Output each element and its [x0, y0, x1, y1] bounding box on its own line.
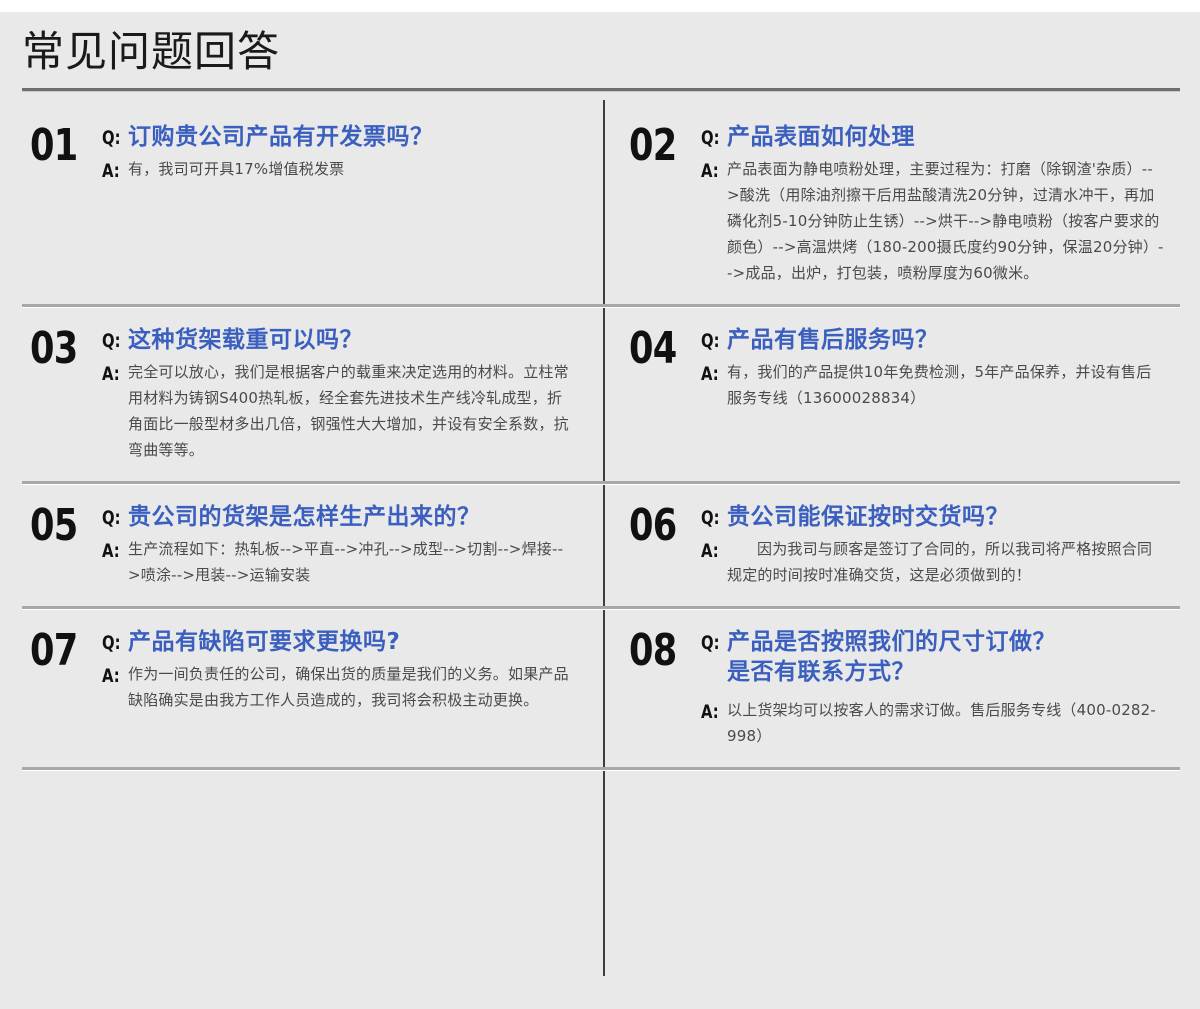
answer-label: A: — [102, 156, 122, 182]
faq-answer-line: A: 生产流程如下：热轧板-->平直-->冲孔-->成型-->切割-->焊接--… — [102, 536, 575, 588]
faq-answer-text: 完全可以放心，我们是根据客户的载重来决定选用的材料。立柱常用材料为铸钢S400热… — [128, 359, 575, 463]
question-label: Q: — [701, 325, 721, 352]
faq-grid: 01 Q: 订购贵公司产品有开发票吗？ A: 有，我司可开具17%增值税发票 0… — [22, 104, 1180, 770]
faq-question-line: Q: 贵公司能保证按时交货吗？ — [701, 502, 1164, 532]
question-label: Q: — [701, 502, 721, 529]
faq-question-line: Q: 贵公司的货架是怎样生产出来的？ — [102, 502, 575, 532]
faq-item-07: 07 Q: 产品有缺陷可要求更换吗? A: 作为一间负责任的公司，确保出货的质量… — [22, 609, 601, 767]
faq-number: 08 — [629, 629, 687, 673]
faq-answer-line: A: 产品表面为静电喷粉处理，主要过程为：打磨（除钢渣'杂质）-->酸洗（用除油… — [701, 156, 1164, 286]
faq-question-line: Q: 这种货架载重可以吗？ — [102, 325, 575, 355]
faq-question-line: Q: 产品有缺陷可要求更换吗? — [102, 627, 575, 657]
faq-answer-line: A: 完全可以放心，我们是根据客户的载重来决定选用的材料。立柱常用材料为铸钢S4… — [102, 359, 575, 463]
faq-answer-text: 生产流程如下：热轧板-->平直-->冲孔-->成型-->切割-->焊接-->喷涂… — [128, 536, 575, 588]
faq-answer-line: A: 因为我司与顾客是签订了合同的，所以我司将严格按照合同规定的时间按时准确交货… — [701, 536, 1164, 588]
page-header: 常见问题回答 — [22, 26, 1180, 91]
faq-row: 07 Q: 产品有缺陷可要求更换吗? A: 作为一间负责任的公司，确保出货的质量… — [22, 609, 1180, 770]
faq-answer-line: A: 有，我们的产品提供10年免费检测，5年产品保养，并设有售后服务专线（136… — [701, 359, 1164, 411]
faq-item-03: 03 Q: 这种货架载重可以吗？ A: 完全可以放心，我们是根据客户的载重来决定… — [22, 307, 601, 481]
faq-number: 04 — [629, 327, 687, 371]
answer-label: A: — [701, 359, 721, 385]
faq-number: 05 — [30, 504, 88, 548]
answer-label: A: — [102, 661, 122, 687]
faq-number: 07 — [30, 629, 88, 673]
question-label: Q: — [102, 325, 122, 352]
faq-item-08: 08 Q: 产品是否按照我们的尺寸订做？ 是否有联系方式？ A: 以上货架均可以… — [601, 609, 1180, 767]
answer-label: A: — [701, 697, 721, 723]
faq-question-text: 产品是否按照我们的尺寸订做？ 是否有联系方式？ — [727, 627, 1164, 687]
faq-row: 03 Q: 这种货架载重可以吗？ A: 完全可以放心，我们是根据客户的载重来决定… — [22, 307, 1180, 484]
faq-page: 常见问题回答 01 Q: 订购贵公司产品有开发票吗？ A: 有，我司可开具17%… — [0, 0, 1200, 1009]
faq-number: 03 — [30, 327, 88, 371]
answer-label: A: — [701, 156, 721, 182]
page-title: 常见问题回答 — [22, 26, 1180, 78]
faq-item-06: 06 Q: 贵公司能保证按时交货吗？ A: 因为我司与顾客是签订了合同的，所以我… — [601, 484, 1180, 606]
faq-answer-text: 以上货架均可以按客人的需求订做。售后服务专线（400-0282-998） — [727, 697, 1164, 749]
faq-answer-text: 作为一间负责任的公司，确保出货的质量是我们的义务。如果产品缺陷确实是由我方工作人… — [128, 661, 575, 713]
faq-question-line: Q: 产品表面如何处理 — [701, 122, 1164, 152]
faq-question-text: 这种货架载重可以吗？ — [128, 325, 575, 355]
faq-qa: Q: 贵公司的货架是怎样生产出来的？ A: 生产流程如下：热轧板-->平直-->… — [102, 502, 575, 588]
faq-answer-text: 有，我们的产品提供10年免费检测，5年产品保养，并设有售后服务专线（136000… — [727, 359, 1164, 411]
faq-qa: Q: 产品有售后服务吗？ A: 有，我们的产品提供10年免费检测，5年产品保养，… — [701, 325, 1164, 411]
question-label: Q: — [102, 627, 122, 654]
faq-answer-text: 因为我司与顾客是签订了合同的，所以我司将严格按照合同规定的时间按时准确交货，这是… — [727, 536, 1164, 588]
bottom-strip — [0, 977, 1200, 1009]
faq-question-line: Q: 产品是否按照我们的尺寸订做？ 是否有联系方式？ — [701, 627, 1164, 687]
faq-qa: Q: 贵公司能保证按时交货吗？ A: 因为我司与顾客是签订了合同的，所以我司将严… — [701, 502, 1164, 588]
faq-qa: Q: 这种货架载重可以吗？ A: 完全可以放心，我们是根据客户的载重来决定选用的… — [102, 325, 575, 463]
faq-qa: Q: 产品是否按照我们的尺寸订做？ 是否有联系方式？ A: 以上货架均可以按客人… — [701, 627, 1164, 749]
faq-qa: Q: 订购贵公司产品有开发票吗？ A: 有，我司可开具17%增值税发票 — [102, 122, 575, 182]
question-label: Q: — [701, 122, 721, 149]
faq-number: 01 — [30, 124, 88, 168]
question-label: Q: — [102, 502, 122, 529]
faq-item-02: 02 Q: 产品表面如何处理 A: 产品表面为静电喷粉处理，主要过程为：打磨（除… — [601, 104, 1180, 304]
faq-answer-text: 有，我司可开具17%增值税发票 — [128, 156, 575, 182]
faq-question-text: 订购贵公司产品有开发票吗？ — [128, 122, 575, 152]
title-underline — [22, 88, 1180, 91]
faq-number: 02 — [629, 124, 687, 168]
faq-question-text: 贵公司的货架是怎样生产出来的？ — [128, 502, 575, 532]
faq-question-text: 产品表面如何处理 — [727, 122, 1164, 152]
answer-label: A: — [701, 536, 721, 562]
question-label: Q: — [701, 627, 721, 654]
faq-question-text: 产品有售后服务吗？ — [727, 325, 1164, 355]
faq-question-text-line2: 是否有联系方式？ — [727, 657, 1164, 687]
faq-question-text: 贵公司能保证按时交货吗？ — [727, 502, 1164, 532]
faq-row: 01 Q: 订购贵公司产品有开发票吗？ A: 有，我司可开具17%增值税发票 0… — [22, 104, 1180, 307]
faq-question-text: 产品有缺陷可要求更换吗? — [128, 627, 575, 657]
faq-number: 06 — [629, 504, 687, 548]
faq-answer-line: A: 有，我司可开具17%增值税发票 — [102, 156, 575, 182]
faq-item-01: 01 Q: 订购贵公司产品有开发票吗？ A: 有，我司可开具17%增值税发票 — [22, 104, 601, 304]
top-white-strip — [0, 0, 1200, 12]
faq-qa: Q: 产品表面如何处理 A: 产品表面为静电喷粉处理，主要过程为：打磨（除钢渣'… — [701, 122, 1164, 286]
answer-label: A: — [102, 536, 122, 562]
faq-question-line: Q: 订购贵公司产品有开发票吗？ — [102, 122, 575, 152]
faq-answer-line: A: 作为一间负责任的公司，确保出货的质量是我们的义务。如果产品缺陷确实是由我方… — [102, 661, 575, 713]
faq-answer-line: A: 以上货架均可以按客人的需求订做。售后服务专线（400-0282-998） — [701, 697, 1164, 749]
faq-qa: Q: 产品有缺陷可要求更换吗? A: 作为一间负责任的公司，确保出货的质量是我们… — [102, 627, 575, 713]
faq-question-line: Q: 产品有售后服务吗？ — [701, 325, 1164, 355]
answer-label: A: — [102, 359, 122, 385]
faq-question-text-line1: 产品是否按照我们的尺寸订做？ — [727, 629, 1056, 655]
faq-item-04: 04 Q: 产品有售后服务吗？ A: 有，我们的产品提供10年免费检测，5年产品… — [601, 307, 1180, 481]
question-label: Q: — [102, 122, 122, 149]
faq-row: 05 Q: 贵公司的货架是怎样生产出来的？ A: 生产流程如下：热轧板-->平直… — [22, 484, 1180, 609]
faq-item-05: 05 Q: 贵公司的货架是怎样生产出来的？ A: 生产流程如下：热轧板-->平直… — [22, 484, 601, 606]
faq-answer-text: 产品表面为静电喷粉处理，主要过程为：打磨（除钢渣'杂质）-->酸洗（用除油剂擦干… — [727, 156, 1164, 286]
